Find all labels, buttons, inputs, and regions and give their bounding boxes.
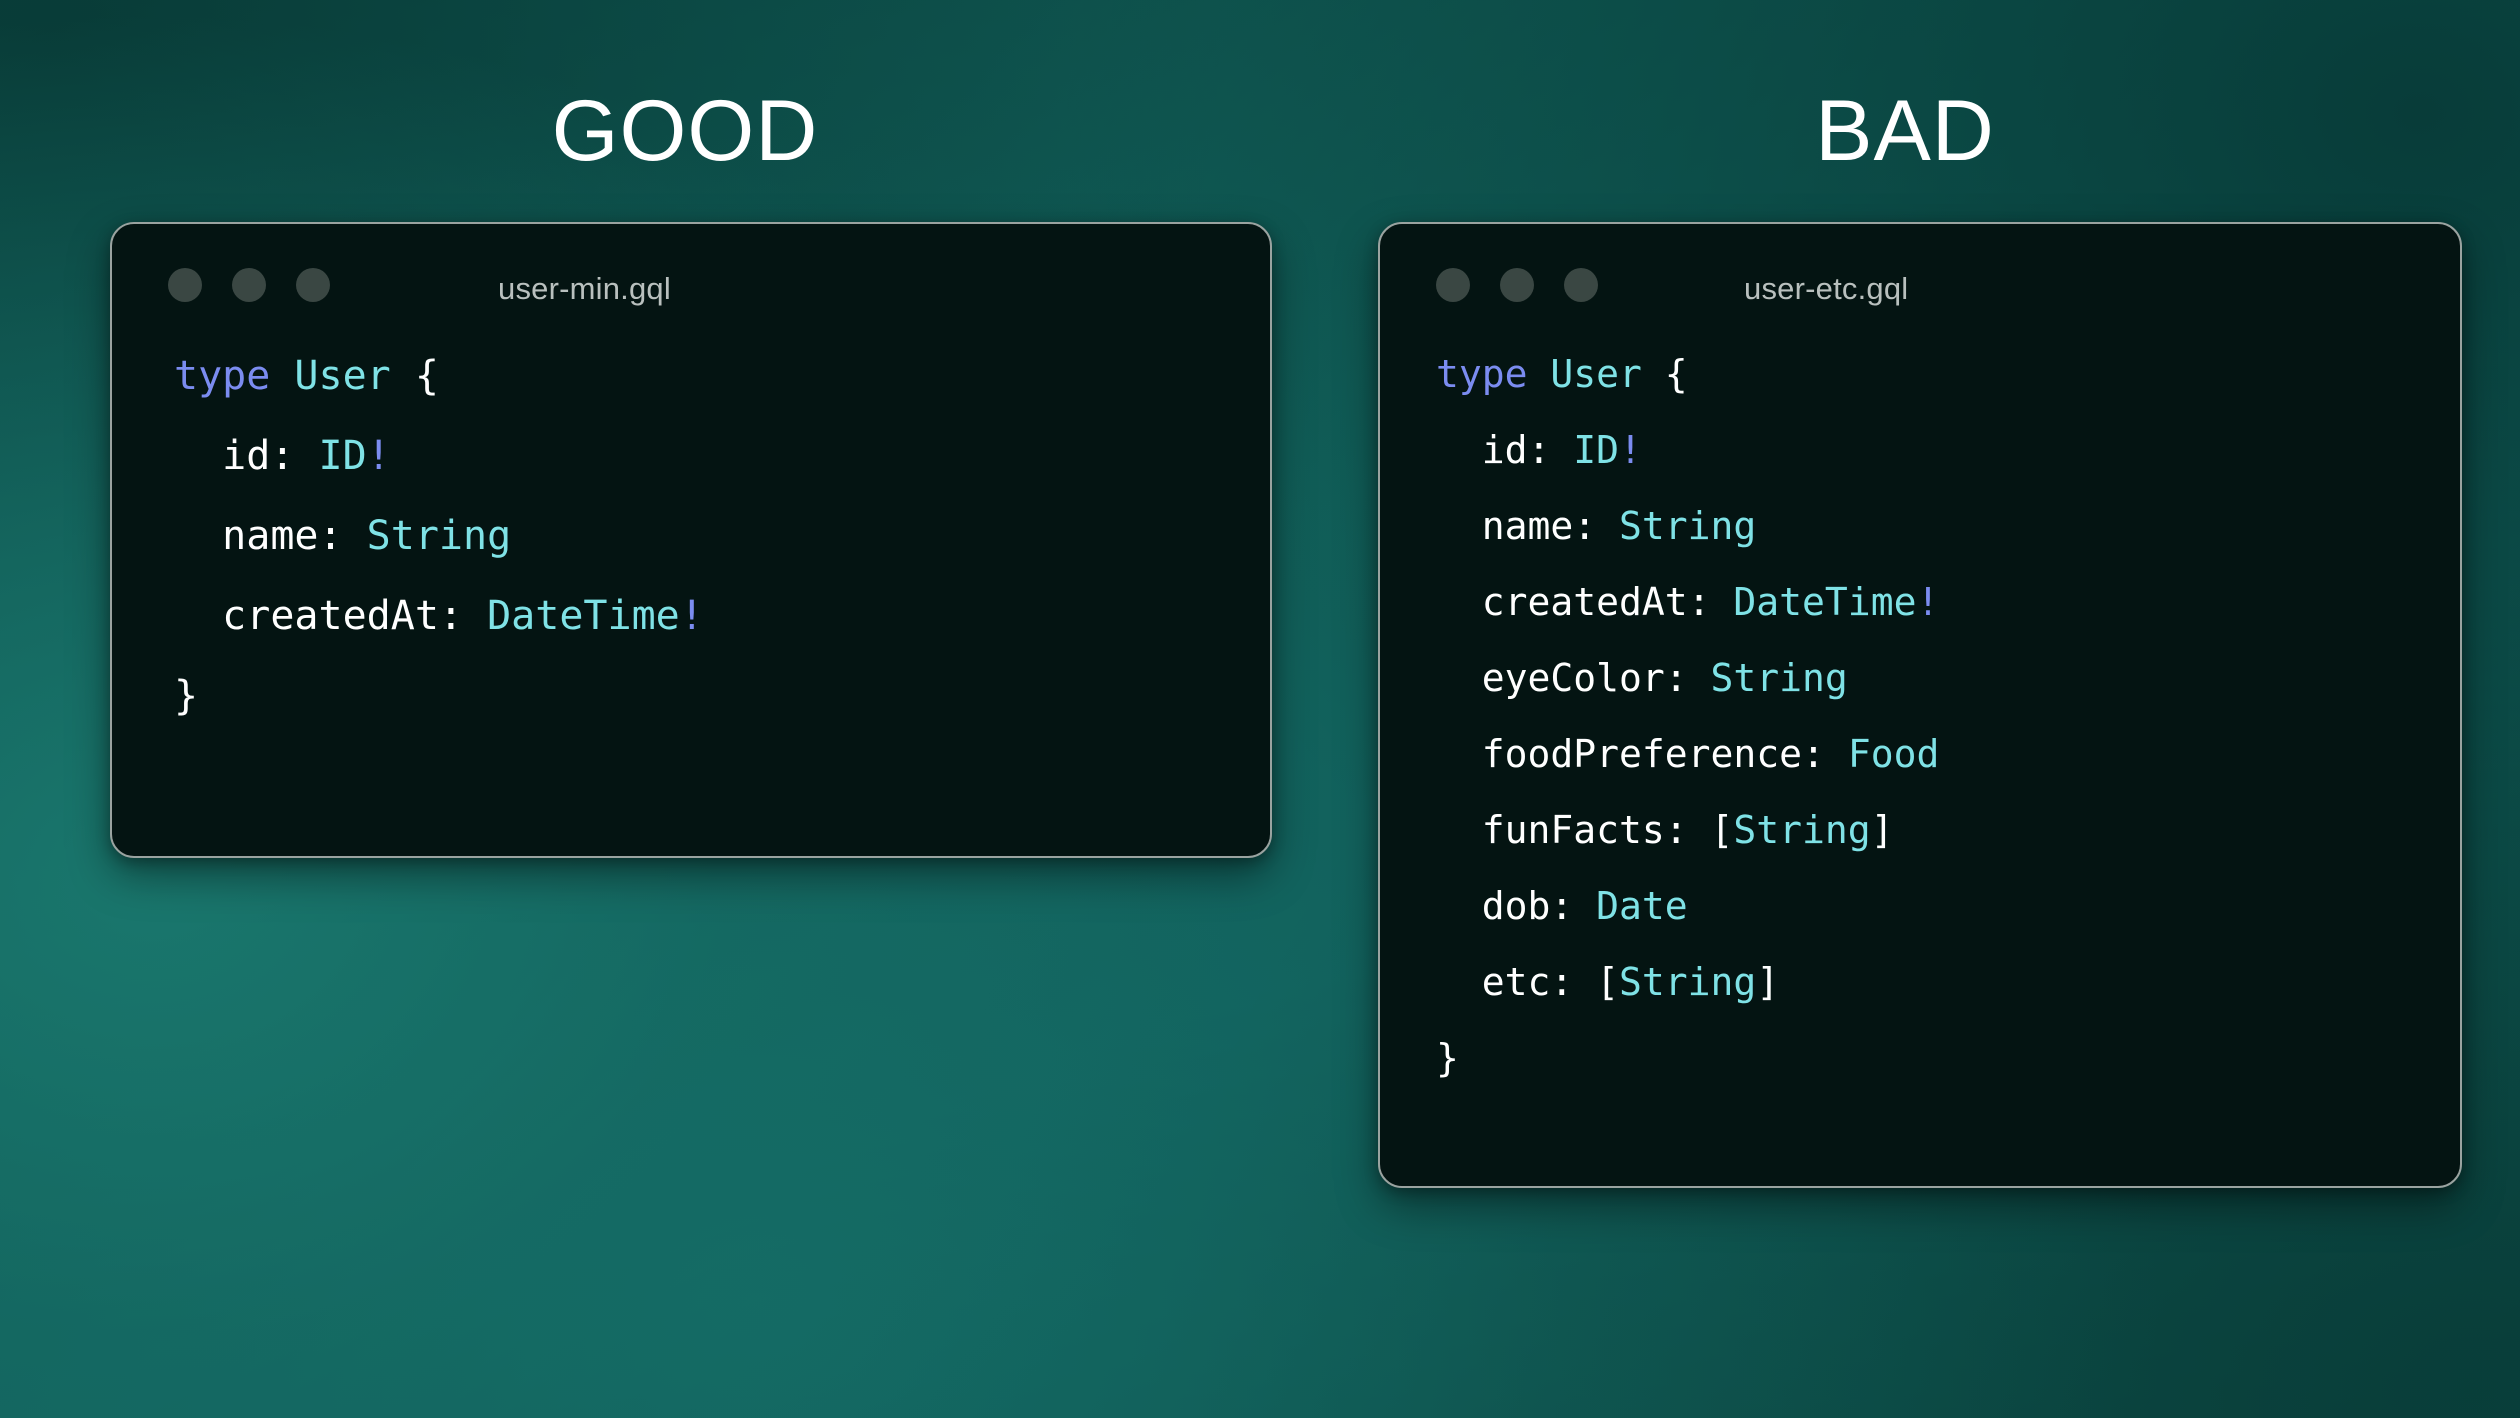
code-token-plain: eyeColor:	[1436, 656, 1711, 700]
code-line: etc: [String]	[1436, 944, 2460, 1020]
code-line: }	[174, 656, 1270, 736]
code-token-type: DateTime	[487, 593, 680, 639]
code-line: }	[1436, 1020, 2460, 1096]
code-token-type: String	[1711, 656, 1848, 700]
code-token-keyword: !	[367, 433, 391, 479]
code-token-type: String	[1733, 808, 1870, 852]
traffic-light-dot-close-icon[interactable]	[168, 268, 202, 302]
code-line: name: String	[1436, 488, 2460, 564]
code-token-plain: {	[391, 353, 439, 399]
code-token-type: String	[1619, 504, 1756, 548]
code-line: foodPreference: Food	[1436, 716, 2460, 792]
code-block-good: type User { id: ID! name: String created…	[112, 336, 1270, 736]
code-line: createdAt: DateTime!	[174, 576, 1270, 656]
code-token-plain: createdAt:	[174, 593, 487, 639]
code-line: funFacts: [String]	[1436, 792, 2460, 868]
code-window-good: user-min.gql type User { id: ID! name: S…	[110, 222, 1272, 858]
code-token-type: Date	[1596, 884, 1688, 928]
window-titlebar-good: user-min.gql	[112, 224, 1270, 336]
code-token-plain: name:	[174, 513, 367, 559]
code-token-plain: name:	[1436, 504, 1619, 548]
traffic-light-dot-minimize-icon[interactable]	[232, 268, 266, 302]
code-line: id: ID!	[1436, 412, 2460, 488]
code-token-type: User	[294, 353, 390, 399]
code-line: dob: Date	[1436, 868, 2460, 944]
code-token-plain: id:	[174, 433, 319, 479]
code-token-plain	[1528, 352, 1551, 396]
code-token-keyword: !	[680, 593, 704, 639]
code-token-plain: ]	[1756, 960, 1779, 1004]
column-title-good: GOOD	[340, 88, 1030, 174]
window-filename-good: user-min.gql	[498, 271, 671, 307]
code-window-bad: user-etc.gql type User { id: ID! name: S…	[1378, 222, 2462, 1188]
code-block-bad: type User { id: ID! name: String created…	[1380, 336, 2460, 1096]
code-token-type: String	[1619, 960, 1756, 1004]
code-token-plain	[270, 353, 294, 399]
code-token-plain: }	[174, 673, 198, 719]
traffic-light-dot-close-icon[interactable]	[1436, 268, 1470, 302]
code-line: name: String	[174, 496, 1270, 576]
code-token-plain: }	[1436, 1036, 1459, 1080]
code-line: type User {	[1436, 336, 2460, 412]
code-token-keyword: !	[1916, 580, 1939, 624]
code-token-plain: dob:	[1436, 884, 1596, 928]
traffic-light-dot-maximize-icon[interactable]	[1564, 268, 1598, 302]
code-line: type User {	[174, 336, 1270, 416]
code-token-keyword: type	[1436, 352, 1528, 396]
comparison-slide: GOOD BAD user-min.gql type User { id: ID…	[0, 0, 2520, 1418]
code-token-plain: etc: [	[1436, 960, 1619, 1004]
code-token-plain: foodPreference:	[1436, 732, 1848, 776]
window-controls-good	[168, 268, 330, 302]
code-token-keyword: !	[1619, 428, 1642, 472]
window-titlebar-bad: user-etc.gql	[1380, 224, 2460, 336]
code-token-type: Food	[1848, 732, 1940, 776]
code-token-type: DateTime	[1733, 580, 1916, 624]
code-line: id: ID!	[174, 416, 1270, 496]
code-token-plain: id:	[1436, 428, 1573, 472]
code-token-keyword: type	[174, 353, 270, 399]
code-token-plain: funFacts: [	[1436, 808, 1733, 852]
code-token-plain: {	[1642, 352, 1688, 396]
code-token-plain: ]	[1871, 808, 1894, 852]
code-line: eyeColor: String	[1436, 640, 2460, 716]
code-token-type: ID	[1573, 428, 1619, 472]
code-token-type: String	[367, 513, 512, 559]
column-title-bad: BAD	[1560, 88, 2250, 174]
code-line: createdAt: DateTime!	[1436, 564, 2460, 640]
traffic-light-dot-minimize-icon[interactable]	[1500, 268, 1534, 302]
window-filename-bad: user-etc.gql	[1744, 271, 1908, 307]
code-token-type: ID	[319, 433, 367, 479]
window-controls-bad	[1436, 268, 1598, 302]
code-token-plain: createdAt:	[1436, 580, 1733, 624]
traffic-light-dot-maximize-icon[interactable]	[296, 268, 330, 302]
code-token-type: User	[1550, 352, 1642, 396]
